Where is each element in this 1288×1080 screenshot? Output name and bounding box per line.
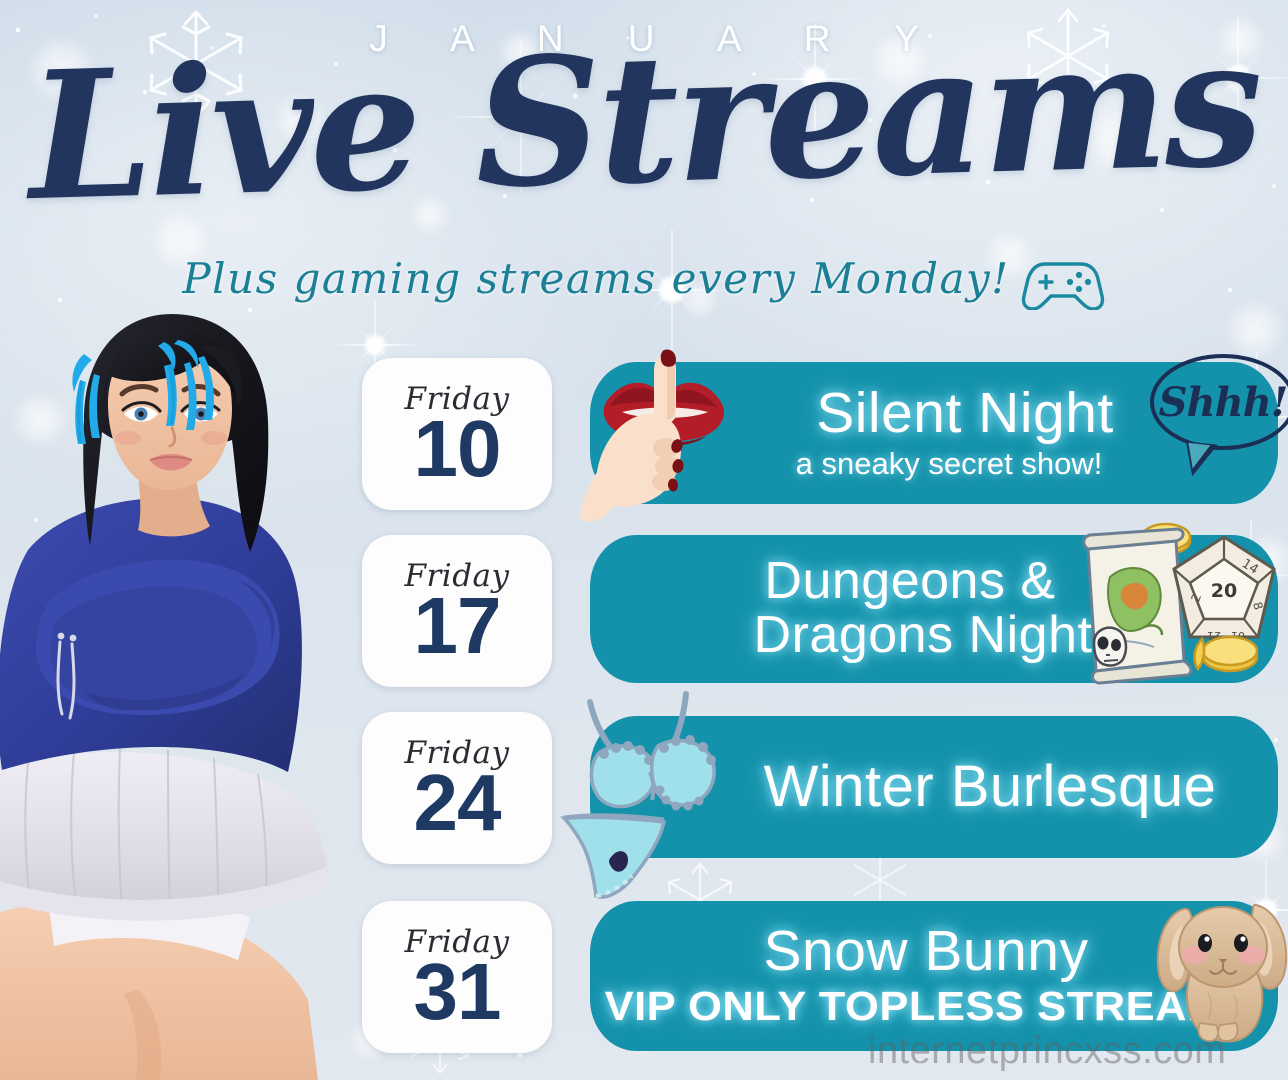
schedule-row[interactable]: Friday 24 Winter Burlesque: [362, 706, 1288, 883]
gamepad-icon: [1020, 252, 1106, 310]
date-card: Friday 17: [362, 535, 552, 687]
schedule-row[interactable]: Friday 10 Silent Night a sneaky secret s…: [362, 352, 1288, 529]
event-pill[interactable]: Winter Burlesque: [590, 716, 1278, 858]
schedule-row[interactable]: Friday 17 Dungeons & Dragons Night: [362, 529, 1288, 706]
date-card: Friday 24: [362, 712, 552, 864]
date-card: Friday 31: [362, 901, 552, 1053]
event-title-line2: Dragons Night: [754, 609, 1093, 663]
speech-bubble-icon: Shhh!: [1150, 354, 1288, 450]
event-title: Snow Bunny: [763, 922, 1088, 981]
page-title: Live Streams: [0, 18, 1288, 223]
poster-canvas: J A N U A R Y Live Streams Plus gaming s…: [0, 0, 1288, 1080]
event-subtitle: VIP ONLY TOPLESS STREAM!!: [604, 983, 1253, 1030]
date-card-number: 31: [414, 954, 501, 1030]
event-title-line1: Dungeons &: [764, 555, 1055, 609]
date-card: Friday 10: [362, 358, 552, 510]
event-subtitle: a sneaky secret show!: [796, 446, 1103, 482]
date-card-number: 24: [414, 765, 501, 841]
schedule-list: Friday 10 Silent Night a sneaky secret s…: [362, 352, 1288, 1073]
event-pill[interactable]: Dungeons & Dragons Night: [590, 535, 1278, 683]
date-card-number: 17: [414, 588, 501, 664]
speech-bubble-text: Shhh!: [1150, 354, 1288, 450]
event-pill[interactable]: Snow Bunny VIP ONLY TOPLESS STREAM!!: [590, 901, 1278, 1051]
watermark: internetprincxss.com: [868, 1030, 1226, 1073]
subtitle-text: Plus gaming streams every Monday!: [182, 254, 1009, 303]
event-title: Silent Night: [816, 384, 1114, 443]
model-photo: [0, 300, 348, 1080]
event-title: Winter Burlesque: [764, 757, 1217, 817]
date-card-number: 10: [414, 411, 501, 487]
